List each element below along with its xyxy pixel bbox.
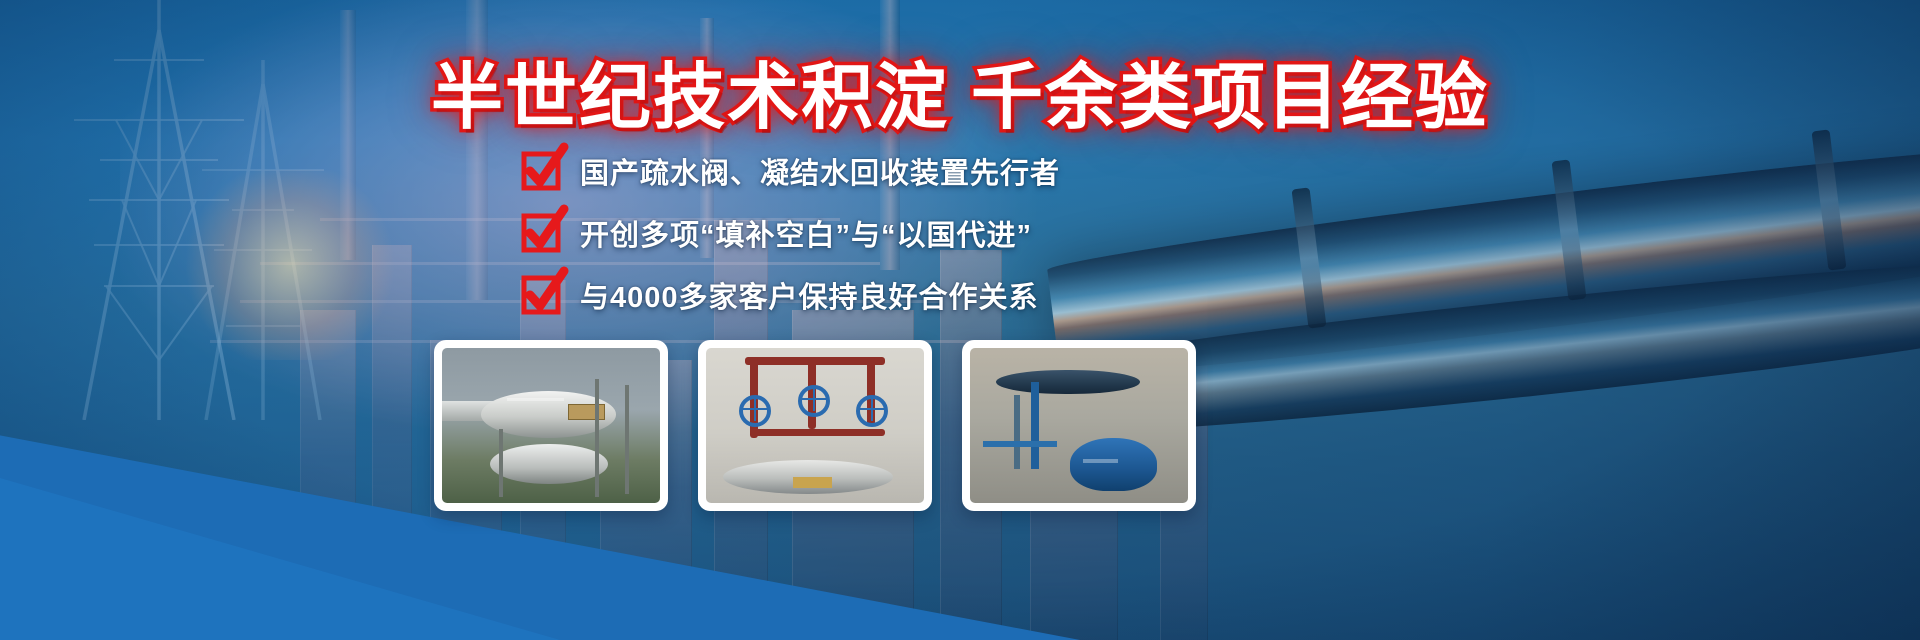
check-box-icon <box>524 154 558 188</box>
list-item-label: 与4000多家客户保持良好合作关系 <box>580 274 1039 316</box>
check-box-icon <box>524 216 558 250</box>
photo-detail-highlight <box>507 398 564 401</box>
photo-detail-handwheel <box>739 395 771 427</box>
list-item-label: 国产疏水阀、凝结水回收装置先行者 <box>580 150 1060 192</box>
photo-image <box>970 348 1188 503</box>
hero-banner: 半世纪技术积淀 千余类项目经验 国产疏水阀、凝结水回收装置先行者 开创多项“填补… <box>0 0 1920 640</box>
photo-detail-support <box>595 379 599 497</box>
photo-detail-support <box>625 385 629 494</box>
photo-detail-vessel <box>996 370 1140 395</box>
list-item: 与4000多家客户保持良好合作关系 <box>524 274 1060 316</box>
photo-detail-pipe <box>983 441 1057 447</box>
photo-card-blue-pressure-vessel[interactable] <box>962 340 1196 511</box>
photo-detail-column <box>1031 382 1039 469</box>
photo-detail-vessel <box>1070 438 1157 491</box>
photo-detail-vessel <box>490 444 608 484</box>
photo-card-separator-vessel[interactable] <box>434 340 668 511</box>
photo-detail-nameplate <box>568 404 605 420</box>
photo-detail-column <box>1014 395 1020 469</box>
photo-image <box>442 348 660 503</box>
page-title: 半世纪技术积淀 千余类项目经验 <box>0 38 1920 143</box>
photo-detail-handwheel <box>798 385 830 417</box>
photo-image <box>706 348 924 503</box>
photo-card-gallery <box>434 340 1196 511</box>
photo-detail-handwheel <box>856 395 888 427</box>
check-box-icon <box>524 278 558 312</box>
list-item: 开创多项“填补空白”与“以国代进” <box>524 212 1060 254</box>
list-item: 国产疏水阀、凝结水回收装置先行者 <box>524 150 1060 192</box>
list-item-label: 开创多项“填补空白”与“以国代进” <box>580 212 1032 254</box>
photo-detail-nameplate <box>793 477 832 488</box>
feature-list: 国产疏水阀、凝结水回收装置先行者 开创多项“填补空白”与“以国代进” 与4000… <box>524 150 1060 316</box>
photo-card-red-piping-manifold[interactable] <box>698 340 932 511</box>
photo-detail-pipe <box>750 429 885 436</box>
photo-detail-highlight <box>1083 459 1118 463</box>
photo-detail-support <box>499 429 503 497</box>
